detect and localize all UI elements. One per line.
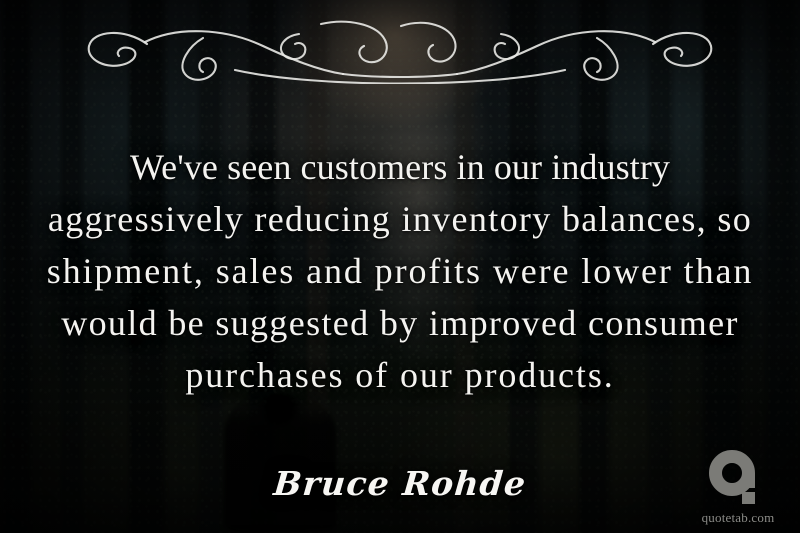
quote-line: shipment, sales and profits were lower t…	[44, 245, 756, 297]
quote-text: We've seen customers in our industry agg…	[44, 141, 756, 401]
quotetab-q-logo-icon	[709, 450, 767, 506]
decorative-filigree-flourish-icon	[85, 12, 715, 84]
quote-line: would be suggested by improved consumer	[44, 297, 756, 349]
quote-author-name: Bruce Rohde	[0, 464, 800, 503]
watermark-site-label: quotetab.com	[690, 510, 786, 525]
watermark[interactable]: quotetab.com	[690, 450, 786, 525]
quote-line: aggressively reducing inventory balances…	[44, 193, 756, 245]
quote-line: purchases of our products.	[44, 349, 756, 401]
quote-card: We've seen customers in our industry agg…	[0, 0, 800, 533]
quote-line: We've seen customers in our industry	[44, 141, 756, 193]
